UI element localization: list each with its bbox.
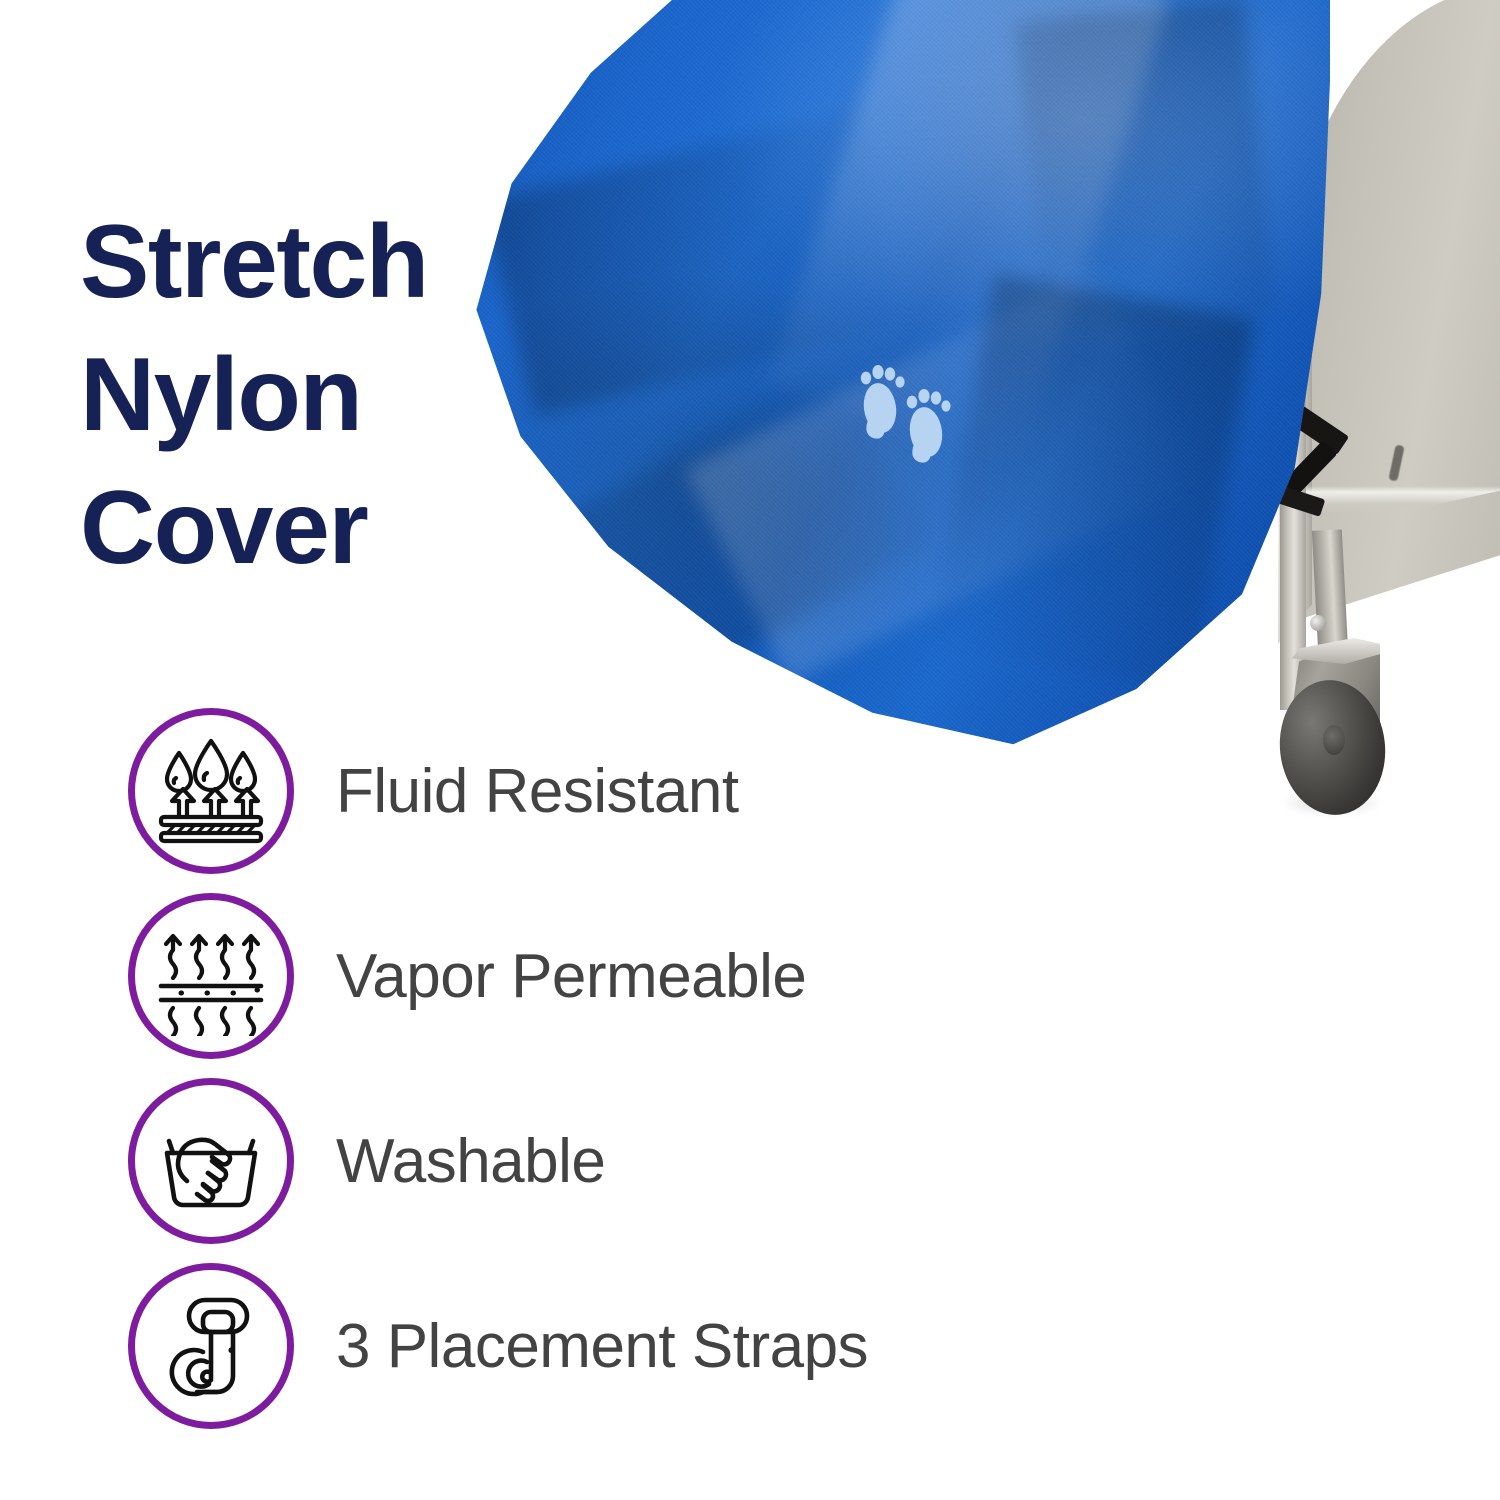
feature-row-placement-straps[interactable]: 3 Placement Straps: [0, 1255, 1200, 1440]
feature-row-washable[interactable]: Washable: [0, 1070, 1200, 1255]
feature-list: Fluid Resistant: [0, 700, 1200, 1440]
fluid-resistant-icon: [128, 708, 294, 874]
fabric-fold: [1015, 0, 1276, 337]
caster-hub: [1323, 725, 1345, 755]
feature-label: Vapor Permeable: [336, 885, 806, 1067]
feature-row-fluid-resistant[interactable]: Fluid Resistant: [0, 700, 1200, 885]
feature-row-vapor-permeable[interactable]: Vapor Permeable: [0, 885, 1200, 1070]
footprints-icon: [850, 350, 970, 470]
washable-icon: [128, 1078, 294, 1244]
caster-bolt: [1310, 615, 1326, 631]
product-marketing-image: Stretch Nylon Cover: [0, 0, 1500, 1500]
stretch-nylon-cover: [450, 0, 1330, 768]
vapor-permeable-icon: [128, 893, 294, 1059]
feature-label: 3 Placement Straps: [336, 1255, 868, 1437]
feature-label: Washable: [336, 1070, 605, 1252]
feature-label: Fluid Resistant: [336, 700, 739, 882]
placement-straps-icon: [128, 1263, 294, 1429]
